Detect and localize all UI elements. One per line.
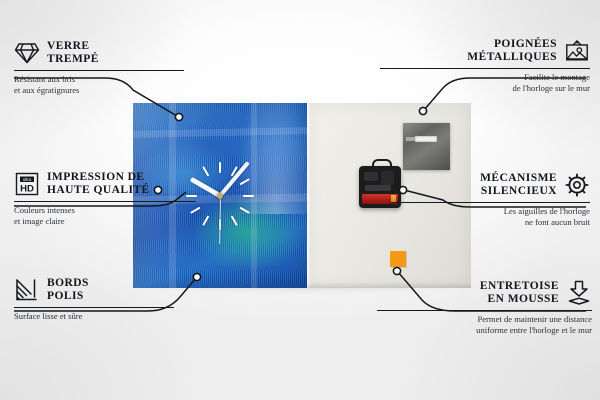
callout-bords-polis: BORDS POLIS Surface lisse et sûre: [14, 277, 214, 322]
callout-desc-line2: et aux égratignures: [14, 85, 214, 96]
callout-desc-line1: Les aiguilles de l'horloge: [390, 206, 590, 217]
callout-divider: [14, 201, 196, 202]
clock-center-pivot: [217, 193, 223, 199]
mechanism-detail: [364, 172, 378, 181]
callout-desc-line2: et image claire: [14, 216, 214, 227]
callout-title: VERRE TREMPÉ: [47, 40, 99, 66]
callout-header: BORDS POLIS: [14, 277, 214, 303]
callout-divider: [390, 202, 590, 203]
callout-desc-line1: Facilite le montage: [380, 72, 590, 83]
picture-frame-hanger-icon: [564, 38, 590, 64]
callout-header: MÉCANISME SILENCIEUX: [390, 172, 590, 198]
diamond-icon: [14, 40, 40, 66]
callout-desc-line1: Surface lisse et sûre: [14, 311, 214, 322]
callout-divider: [14, 70, 184, 71]
polished-edges-icon: [14, 277, 40, 303]
infographic-stage: VERRE TREMPÉ Résistant aux bris et aux é…: [0, 0, 600, 400]
callout-desc-line2: ne font aucun bruit: [390, 217, 590, 228]
callout-desc-line1: Permet de maintenir une distance: [377, 314, 592, 325]
ultra-hd-icon: ultra HD: [14, 171, 40, 197]
callout-header: VERRE TREMPÉ: [14, 40, 214, 66]
callout-title: ENTRETOISE EN MOUSSE: [480, 280, 559, 306]
callout-mecanisme-silencieux: MÉCANISME SILENCIEUX Les aiguilles de l'…: [390, 172, 590, 228]
callout-divider: [380, 68, 590, 69]
callout-header: ENTRETOISE EN MOUSSE: [377, 280, 592, 306]
callout-desc-line2: uniforme entre l'horloge et le mur: [377, 325, 592, 336]
callout-divider: [377, 310, 592, 311]
hanger-keyhole-slot: [415, 136, 437, 142]
callout-desc-line1: Résistant aux bris: [14, 74, 214, 85]
gear-icon: [564, 172, 590, 198]
callout-verre-trempe: VERRE TREMPÉ Résistant aux bris et aux é…: [14, 40, 214, 96]
down-arrow-spacer-icon: [566, 280, 592, 306]
clock-second-hand: [219, 195, 221, 243]
callout-poignees-metalliques: POIGNÉES MÉTALLIQUES Facilite le montage…: [380, 38, 590, 94]
callout-header: POIGNÉES MÉTALLIQUES: [380, 38, 590, 64]
callout-desc-line2: de l'horloge sur le mur: [380, 83, 590, 94]
svg-text:ultra: ultra: [23, 177, 32, 182]
mechanism-detail: [365, 185, 391, 191]
metal-hanger-plate: [403, 123, 450, 170]
callout-title: POIGNÉES MÉTALLIQUES: [467, 38, 557, 64]
callout-impression-haute-qualite: ultra HD IMPRESSION DE HAUTE QUALITÉ Cou…: [14, 171, 214, 227]
callout-title: BORDS POLIS: [47, 277, 89, 303]
callout-divider: [14, 307, 174, 308]
callout-title: MÉCANISME SILENCIEUX: [480, 172, 557, 198]
callout-desc-line1: Couleurs intenses: [14, 205, 214, 216]
clock-minute-hand: [218, 161, 249, 197]
callout-entretoise-en-mousse: ENTRETOISE EN MOUSSE Permet de maintenir…: [377, 280, 592, 336]
foam-spacer: [390, 251, 406, 267]
callout-title: IMPRESSION DE HAUTE QUALITÉ: [47, 171, 150, 197]
svg-text:HD: HD: [20, 183, 34, 194]
panel-edge-highlight: [307, 103, 311, 288]
callout-header: ultra HD IMPRESSION DE HAUTE QUALITÉ: [14, 171, 214, 197]
